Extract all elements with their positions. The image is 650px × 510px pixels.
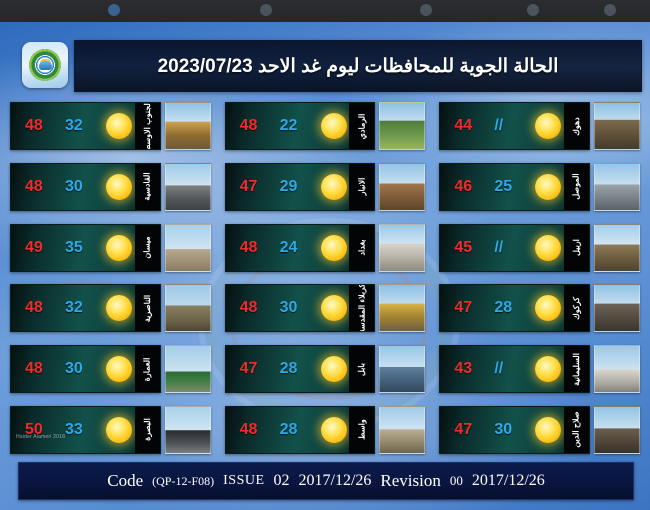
- min-temp: 30: [280, 299, 298, 317]
- forecast-row[interactable]: 49 35 ميسان: [10, 224, 211, 270]
- forecast-card[interactable]: 48 24 بغداد: [225, 224, 376, 272]
- forecast-grid: 48 32 الجنوب الاوسط 48 30 القادسية: [10, 102, 640, 452]
- sun-icon: [106, 174, 132, 200]
- min-temp: 30: [65, 360, 83, 378]
- city-label: الموصل: [564, 164, 589, 210]
- sun-icon: [321, 417, 347, 443]
- min-temp: //: [494, 239, 503, 257]
- page-title: الحالة الجوية للمحافظات ليوم غد الاحد 20…: [158, 55, 559, 78]
- city-label: بغداد: [349, 225, 374, 271]
- min-temp: 24: [280, 239, 298, 257]
- landmark-photo: [165, 406, 211, 454]
- sun-icon: [321, 295, 347, 321]
- forecast-row[interactable]: 48 22 الرمادي: [225, 102, 426, 148]
- forecast-card[interactable]: 48 22 الرمادي: [225, 102, 376, 150]
- max-temp: 45: [454, 239, 472, 257]
- max-temp: 48: [240, 239, 258, 257]
- landmark-photo: [165, 102, 211, 150]
- city-name: كركوك: [572, 297, 581, 320]
- revision-label: Revision: [380, 471, 440, 491]
- forecast-card[interactable]: 47 29 الانبار: [225, 163, 376, 211]
- title-bar: الحالة الجوية للمحافظات ليوم غد الاحد 20…: [74, 40, 642, 92]
- city-name: واسط: [357, 420, 366, 440]
- code-label: Code: [107, 471, 143, 491]
- city-name: صلاح الدين: [572, 412, 581, 448]
- landmark-photo: [594, 224, 640, 272]
- forecast-row[interactable]: 43 // السليمانية: [439, 345, 640, 391]
- forecast-card[interactable]: 48 28 واسط: [225, 406, 376, 454]
- city-label: كركوك: [564, 285, 589, 331]
- min-temp: 35: [65, 239, 83, 257]
- forecast-row[interactable]: 45 // اربيل: [439, 224, 640, 270]
- city-name: السليمانية: [572, 353, 581, 386]
- taskbar-icon-4[interactable]: [527, 4, 539, 16]
- sun-icon: [321, 174, 347, 200]
- forecast-card[interactable]: 46 25 الموصل: [439, 163, 590, 211]
- city-name: كربلاء المقدسة: [357, 284, 366, 332]
- issue-date: 2017/12/26: [299, 472, 372, 490]
- column-middle: 48 22 الرمادي 47 29 الانبار: [225, 102, 426, 452]
- forecast-row[interactable]: 48 32 الجنوب الاوسط: [10, 102, 211, 148]
- forecast-row[interactable]: 48 30 القادسية: [10, 163, 211, 209]
- sun-icon: [106, 113, 132, 139]
- landmark-photo: [165, 345, 211, 393]
- forecast-row[interactable]: 47 30 صلاح الدين: [439, 406, 640, 452]
- city-label: السليمانية: [564, 346, 589, 392]
- min-temp: 25: [494, 178, 512, 196]
- taskbar-icon-3[interactable]: [420, 4, 432, 16]
- city-name: العمارة: [143, 357, 152, 381]
- city-name: بابل: [357, 363, 366, 376]
- min-temp: 29: [280, 178, 298, 196]
- forecast-card[interactable]: 47 28 بابل: [225, 345, 376, 393]
- sun-icon: [535, 235, 561, 261]
- issue-label: ISSUE: [223, 473, 264, 489]
- landmark-photo: [594, 345, 640, 393]
- forecast-card[interactable]: 48 30 العمارة: [10, 345, 161, 393]
- city-label: دهوك: [564, 103, 589, 149]
- max-temp: 48: [25, 360, 43, 378]
- city-name: الانبار: [357, 178, 366, 196]
- forecast-card[interactable]: 48 30 القادسية: [10, 163, 161, 211]
- city-label: الناصرية: [135, 285, 160, 331]
- max-temp: 43: [454, 360, 472, 378]
- min-temp: 30: [494, 421, 512, 439]
- forecast-row[interactable]: 48 24 بغداد: [225, 224, 426, 270]
- forecast-row[interactable]: 46 25 الموصل: [439, 163, 640, 209]
- sun-icon: [321, 113, 347, 139]
- forecast-row[interactable]: 47 29 الانبار: [225, 163, 426, 209]
- revision-date: 2017/12/26: [472, 472, 545, 490]
- landmark-photo: [379, 102, 425, 150]
- sun-icon: [535, 356, 561, 382]
- max-temp: 48: [25, 117, 43, 135]
- forecast-card[interactable]: 48 30 كربلاء المقدسة: [225, 284, 376, 332]
- max-temp: 46: [454, 178, 472, 196]
- sun-icon: [535, 174, 561, 200]
- city-label: كربلاء المقدسة: [349, 285, 374, 331]
- city-label: الجنوب الاوسط: [135, 103, 160, 149]
- min-temp: 28: [494, 299, 512, 317]
- revision-number: 00: [450, 473, 463, 489]
- min-temp: //: [494, 360, 503, 378]
- city-label: صلاح الدين: [564, 407, 589, 453]
- forecast-card[interactable]: 47 28 كركوك: [439, 284, 590, 332]
- max-temp: 47: [454, 421, 472, 439]
- max-temp: 48: [240, 299, 258, 317]
- city-label: بابل: [349, 346, 374, 392]
- forecast-card[interactable]: 43 // السليمانية: [439, 345, 590, 393]
- forecast-row[interactable]: 50 33 البصرة: [10, 406, 211, 452]
- city-label: واسط: [349, 407, 374, 453]
- max-temp: 47: [240, 178, 258, 196]
- max-temp: 47: [454, 299, 472, 317]
- forecast-card[interactable]: 45 // اربيل: [439, 224, 590, 272]
- sun-icon: [535, 113, 561, 139]
- forecast-card[interactable]: 49 35 ميسان: [10, 224, 161, 272]
- code-number: (QP-12-F08): [152, 474, 214, 489]
- forecast-row[interactable]: 48 30 كربلاء المقدسة: [225, 284, 426, 330]
- taskbar-icon-5[interactable]: [604, 4, 616, 16]
- forecast-row[interactable]: 48 30 العمارة: [10, 345, 211, 391]
- sun-icon: [106, 235, 132, 261]
- landmark-photo: [379, 163, 425, 211]
- city-name: الرمادي: [357, 113, 366, 139]
- city-label: القادسية: [135, 164, 160, 210]
- city-name: الموصل: [572, 174, 581, 200]
- sun-icon: [106, 417, 132, 443]
- city-label: البصرة: [135, 407, 160, 453]
- landmark-photo: [594, 102, 640, 150]
- min-temp: 28: [280, 421, 298, 439]
- landmark-photo: [379, 224, 425, 272]
- city-name: البصرة: [143, 419, 152, 442]
- max-temp: 44: [454, 117, 472, 135]
- min-temp: 33: [65, 421, 83, 439]
- max-temp: 48: [25, 299, 43, 317]
- sun-icon: [321, 356, 347, 382]
- min-temp: 28: [280, 360, 298, 378]
- issue-number: 02: [274, 472, 290, 490]
- forecast-card[interactable]: 48 32 الناصرية: [10, 284, 161, 332]
- city-label: الرمادي: [349, 103, 374, 149]
- landmark-photo: [379, 345, 425, 393]
- city-name: ميسان: [143, 237, 152, 259]
- landmark-photo: [165, 224, 211, 272]
- min-temp: 30: [65, 178, 83, 196]
- sun-icon: [535, 417, 561, 443]
- sun-icon: [535, 295, 561, 321]
- forecast-row[interactable]: 47 28 كركوك: [439, 284, 640, 330]
- city-label: ميسان: [135, 225, 160, 271]
- taskbar-icon-1[interactable]: [108, 4, 120, 16]
- landmark-photo: [379, 284, 425, 332]
- max-temp: 48: [240, 117, 258, 135]
- emblem-ring-icon: [29, 49, 61, 81]
- forecast-card[interactable]: 50 33 البصرة: [10, 406, 161, 454]
- landmark-photo: [594, 163, 640, 211]
- landmark-photo: [594, 406, 640, 454]
- credit-watermark: Haider Alameri 2018: [16, 434, 65, 440]
- city-name: اربيل: [572, 239, 581, 256]
- city-label: الانبار: [349, 164, 374, 210]
- min-temp: //: [494, 117, 503, 135]
- taskbar-icon-2[interactable]: [260, 4, 272, 16]
- forecast-row[interactable]: 47 28 بابل: [225, 345, 426, 391]
- forecast-card[interactable]: 44 // دهوك: [439, 102, 590, 150]
- forecast-row[interactable]: 48 32 الناصرية: [10, 284, 211, 330]
- city-name: الناصرية: [143, 295, 152, 322]
- max-temp: 48: [240, 421, 258, 439]
- city-name: بغداد: [357, 240, 366, 256]
- header: الحالة الجوية للمحافظات ليوم غد الاحد 20…: [10, 40, 640, 90]
- sun-icon: [106, 356, 132, 382]
- column-north: 44 // دهوك 46 25 الموصل: [439, 102, 640, 452]
- landmark-photo: [165, 284, 211, 332]
- min-temp: 32: [65, 117, 83, 135]
- forecast-card[interactable]: 47 30 صلاح الدين: [439, 406, 590, 454]
- weather-forecast-window: الحالة الجوية للمحافظات ليوم غد الاحد 20…: [0, 0, 650, 510]
- max-temp: 49: [25, 239, 43, 257]
- landmark-photo: [594, 284, 640, 332]
- sun-icon: [106, 295, 132, 321]
- city-label: العمارة: [135, 346, 160, 392]
- sun-icon: [321, 235, 347, 261]
- city-name: الجنوب الاوسط: [143, 102, 152, 150]
- forecast-card[interactable]: 48 32 الجنوب الاوسط: [10, 102, 161, 150]
- forecast-row[interactable]: 44 // دهوك: [439, 102, 640, 148]
- taskbar: [0, 0, 650, 23]
- weather-cloud-emblem-icon: [22, 42, 68, 88]
- forecast-board: الحالة الجوية للمحافظات ليوم غد الاحد 20…: [0, 22, 650, 510]
- city-name: القادسية: [143, 173, 152, 201]
- city-name: دهوك: [572, 117, 581, 136]
- landmark-photo: [165, 163, 211, 211]
- min-temp: 32: [65, 299, 83, 317]
- column-south: 48 32 الجنوب الاوسط 48 30 القادسية: [10, 102, 211, 452]
- landmark-photo: [379, 406, 425, 454]
- max-temp: 48: [25, 178, 43, 196]
- document-code-footer: Code (QP-12-F08) ISSUE 02 2017/12/26 Rev…: [18, 462, 634, 500]
- forecast-row[interactable]: 48 28 واسط: [225, 406, 426, 452]
- city-label: اربيل: [564, 225, 589, 271]
- max-temp: 47: [240, 360, 258, 378]
- min-temp: 22: [280, 117, 298, 135]
